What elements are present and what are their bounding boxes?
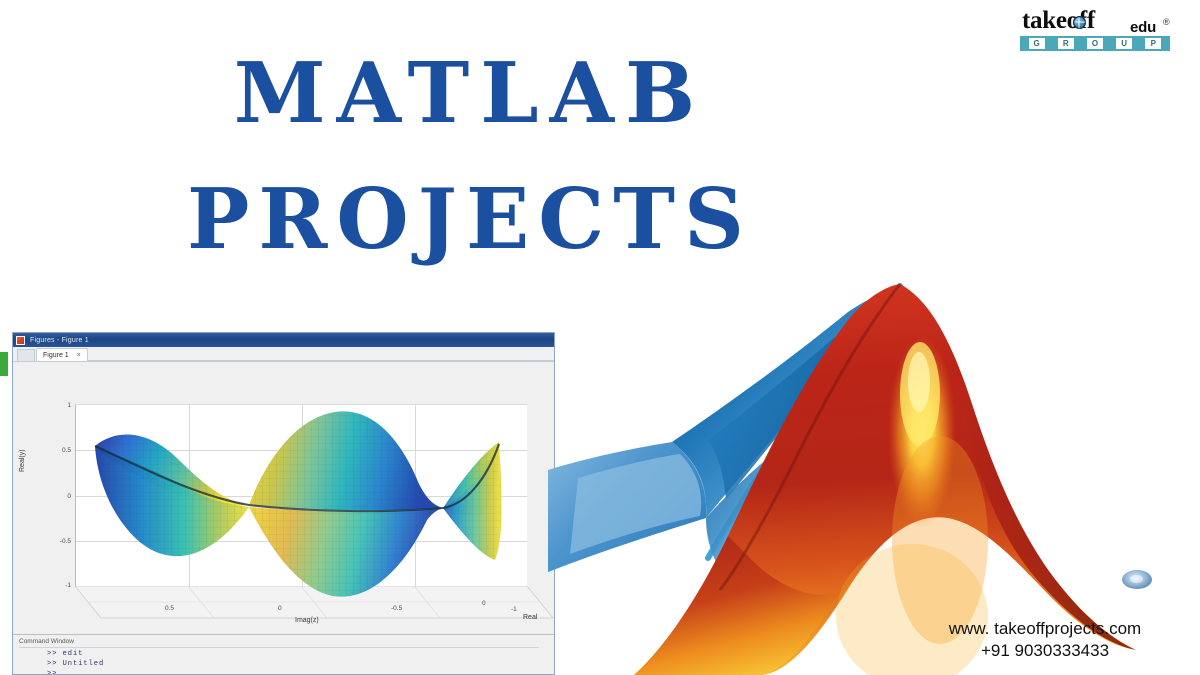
- headline-matlab: MATLAB: [0, 52, 940, 135]
- x-axis-label: Imag(z): [295, 617, 319, 624]
- x-tick: 0.5: [165, 605, 174, 612]
- figure-plot-area[interactable]: 1 0.5 0 -0.5 -1 Real(y) 0.5 0 -0.5 Imag(…: [13, 362, 554, 635]
- matlab-figure-window: Figures - Figure 1 Figure 1 ×: [12, 332, 555, 675]
- command-window-title: Command Window: [19, 638, 539, 648]
- logo-group-letter: G: [1029, 38, 1045, 49]
- surface-plot: [87, 408, 507, 604]
- y-axis-label: Real(y): [19, 449, 26, 472]
- tab-figure-1[interactable]: Figure 1 ×: [36, 348, 88, 361]
- command-window[interactable]: Command Window >> edit >> Untitled >> fx: [13, 635, 554, 675]
- y-tick: 0: [49, 493, 71, 500]
- contact-block: www. takeoffprojects.com +91 9030333433: [900, 618, 1190, 662]
- globe-icon: [1073, 16, 1086, 29]
- poster-canvas: takeoff edu ® G R O U P MATLAB PROJECTS …: [0, 0, 1200, 675]
- logo-wordmark: takeoff edu ®: [1018, 10, 1180, 35]
- matlab-membrane-logo: [548, 272, 1200, 675]
- registered-trademark-icon: ®: [1163, 10, 1170, 35]
- figure-tab-strip: Figure 1 ×: [13, 347, 554, 362]
- y-tick: -0.5: [49, 538, 71, 545]
- headline-projects: PROJECTS: [0, 178, 940, 261]
- x-tick: 0: [278, 605, 282, 612]
- y-tick-labels: 1 0.5 0 -0.5 -1: [45, 402, 71, 588]
- command-prompt[interactable]: >>: [47, 670, 554, 675]
- z-tick: -1: [511, 606, 517, 613]
- logo-group-letter: U: [1116, 38, 1132, 49]
- command-line: >> Untitled: [47, 660, 554, 668]
- y-tick: 1: [49, 402, 71, 409]
- phone-number[interactable]: +91 9030333433: [900, 640, 1190, 662]
- brand-logo: takeoff edu ® G R O U P: [1018, 10, 1180, 54]
- logo-group-letter: P: [1145, 38, 1161, 49]
- tab-strip-filler: [88, 347, 554, 361]
- x-tick: -0.5: [391, 605, 402, 612]
- y-tick: -1: [49, 582, 71, 589]
- logo-group-bar: G R O U P: [1020, 36, 1170, 51]
- tab-label: Figure 1: [43, 352, 69, 359]
- logo-group-letter: R: [1058, 38, 1074, 49]
- y-tick: 0.5: [49, 447, 71, 454]
- matlab-app-icon: [16, 336, 25, 345]
- website-url[interactable]: www. takeoffprojects.com: [900, 618, 1190, 640]
- figure-window-title: Figures - Figure 1: [30, 337, 89, 344]
- command-line: >> edit: [47, 650, 554, 658]
- close-icon[interactable]: ×: [77, 352, 81, 359]
- figure-window-titlebar[interactable]: Figures - Figure 1: [13, 333, 554, 347]
- tab-list-button[interactable]: [17, 349, 35, 361]
- desktop-edge-accent: [0, 352, 8, 376]
- z-axis-label: Real: [523, 614, 537, 621]
- oval-watermark-icon: [1122, 570, 1152, 589]
- logo-group-letter: O: [1087, 38, 1103, 49]
